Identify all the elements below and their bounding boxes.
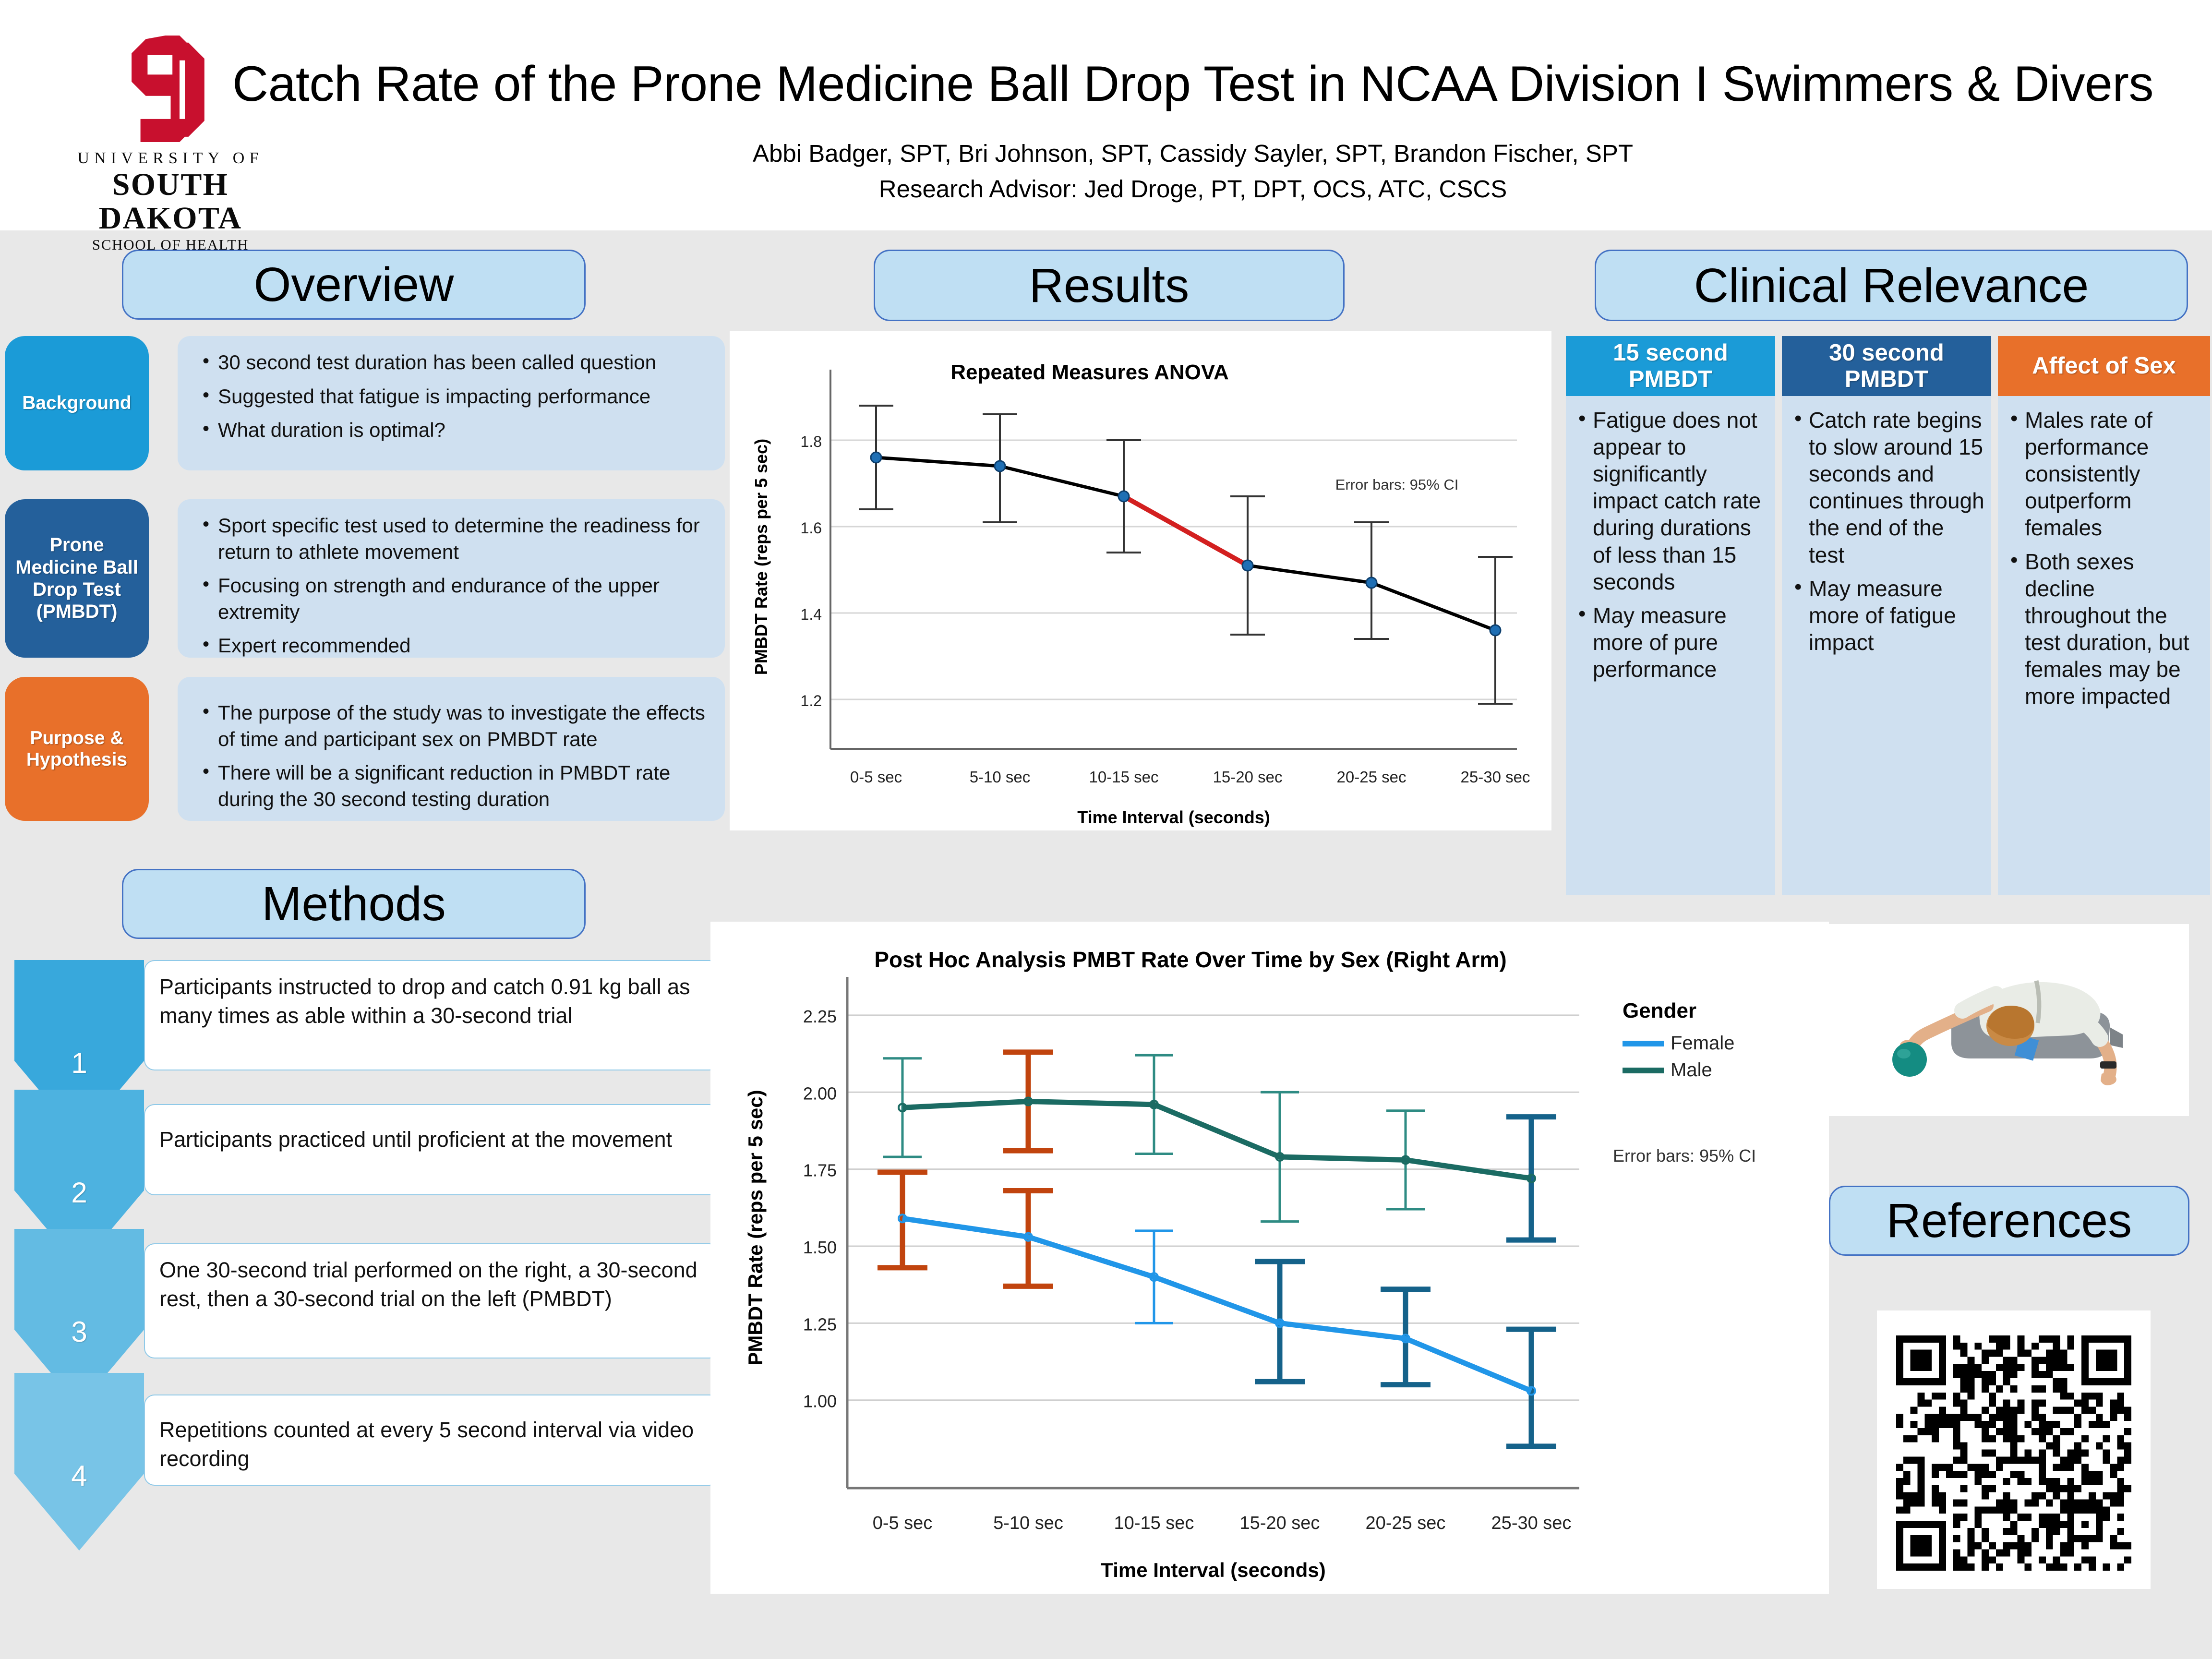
- overview-body-pmbdt: Sport specific test used to determine th…: [178, 499, 725, 658]
- svg-text:Female: Female: [1671, 1033, 1734, 1054]
- svg-text:1.2: 1.2: [801, 692, 822, 709]
- poster-title: Catch Rate of the Prone Medicine Ball Dr…: [206, 58, 2179, 110]
- overview-bullet: Focusing on strength and endurance of th…: [218, 573, 708, 625]
- svg-text:2.25: 2.25: [803, 1007, 837, 1026]
- methods-step-number: 4: [50, 1462, 108, 1491]
- references-qr-panel[interactable]: [1877, 1310, 2151, 1589]
- clinical-column-heading: 15 second PMBDT: [1566, 336, 1775, 396]
- clinical-column-30-second: 30 second PMBDT Catch rate begins to slo…: [1782, 336, 1991, 895]
- methods-step-card-3: One 30-second trial performed on the rig…: [144, 1243, 720, 1358]
- results-section-banner: Results: [874, 250, 1345, 321]
- qr-code-icon[interactable]: [1896, 1335, 2131, 1571]
- svg-text:1.25: 1.25: [803, 1314, 837, 1334]
- clinical-column-body: Catch rate begins to slow around 15 seco…: [1782, 396, 1991, 895]
- methods-step-card-1: Participants instructed to drop and catc…: [144, 960, 720, 1070]
- svg-text:Repeated Measures ANOVA: Repeated Measures ANOVA: [950, 361, 1229, 384]
- clinical-relevance-banner: Clinical Relevance: [1595, 250, 2188, 321]
- research-advisor: Research Advisor: Jed Droge, PT, DPT, OC…: [206, 173, 2179, 205]
- references-section-banner: References: [1829, 1186, 2189, 1256]
- clinical-column-body: Fatigue does not appear to significantly…: [1566, 396, 1775, 895]
- svg-text:1.8: 1.8: [801, 433, 822, 450]
- svg-text:2.00: 2.00: [803, 1083, 837, 1103]
- overview-body-purpose: The purpose of the study was to investig…: [178, 677, 725, 821]
- svg-text:Error bars: 95% CI: Error bars: 95% CI: [1335, 476, 1459, 493]
- overview-tab-label: Prone Medicine Ball Drop Test (PMBDT): [10, 534, 144, 623]
- post-hoc-by-sex-chart: 1.001.251.501.752.002.25Post Hoc Analysi…: [710, 922, 1829, 1594]
- svg-text:20-25 sec: 20-25 sec: [1337, 768, 1407, 786]
- clinical-column-15-second: 15 second PMBDT Fatigue does not appear …: [1566, 336, 1775, 895]
- svg-text:15-20 sec: 15-20 sec: [1240, 1513, 1320, 1533]
- svg-text:Time Interval (seconds): Time Interval (seconds): [1077, 807, 1270, 827]
- svg-text:Error bars: 95% CI: Error bars: 95% CI: [1613, 1146, 1756, 1166]
- clinical-bullet: Both sexes decline throughout the test d…: [2025, 548, 2203, 710]
- poster-header: UNIVERSITY OF SOUTH DAKOTA SCHOOL OF HEA…: [0, 0, 2212, 230]
- svg-text:0-5 sec: 0-5 sec: [873, 1513, 933, 1533]
- svg-text:1.75: 1.75: [803, 1161, 837, 1180]
- svg-text:PMBDT Rate (reps per 5 sec): PMBDT Rate (reps per 5 sec): [751, 439, 771, 675]
- methods-step-number: 1: [50, 1049, 108, 1078]
- references-banner-label: References: [1887, 1197, 2132, 1245]
- svg-text:PMBDT Rate (reps per 5 sec): PMBDT Rate (reps per 5 sec): [744, 1090, 767, 1365]
- overview-bullet: Sport specific test used to determine th…: [218, 513, 708, 565]
- overview-bullet: Suggested that fatigue is impacting perf…: [218, 384, 708, 410]
- clinical-bullet: Fatigue does not appear to significantly…: [1593, 407, 1768, 595]
- svg-text:25-30 sec: 25-30 sec: [1461, 768, 1530, 786]
- demonstration-photo-panel: [1829, 924, 2189, 1116]
- clinical-bullet: Males rate of performance consistently o…: [2025, 407, 2203, 541]
- clinical-bullet: May measure more of pure performance: [1593, 602, 1768, 683]
- clinical-bullet: Catch rate begins to slow around 15 seco…: [1809, 407, 1984, 568]
- svg-text:1.00: 1.00: [803, 1392, 837, 1411]
- clinical-column-heading: 30 second PMBDT: [1782, 336, 1991, 396]
- overview-section-banner: Overview: [122, 250, 586, 320]
- overview-banner-label: Overview: [254, 261, 454, 309]
- methods-step-card-2: Participants practiced until proficient …: [144, 1104, 720, 1195]
- author-list: Abbi Badger, SPT, Bri Johnson, SPT, Cass…: [206, 137, 2179, 169]
- post-hoc-chart-panel: 1.001.251.501.752.002.25Post Hoc Analysi…: [710, 922, 1829, 1594]
- svg-text:1.50: 1.50: [803, 1238, 837, 1257]
- svg-text:15-20 sec: 15-20 sec: [1213, 768, 1283, 786]
- svg-text:1.4: 1.4: [801, 606, 822, 623]
- prone-ball-drop-photo: [1829, 924, 2189, 1116]
- results-banner-label: Results: [1029, 262, 1189, 310]
- overview-body-background: 30 second test duration has been called …: [178, 336, 725, 470]
- overview-bullet: 30 second test duration has been called …: [218, 349, 708, 376]
- methods-step-number: 3: [50, 1318, 108, 1346]
- svg-text:Gender: Gender: [1623, 999, 1696, 1022]
- clinical-column-body: Males rate of performance consistently o…: [1998, 396, 2210, 895]
- results-chart-panel: 1.21.41.61.8Repeated Measures ANOVAError…: [730, 331, 1551, 830]
- clinical-column-heading: Affect of Sex: [1998, 336, 2210, 396]
- overview-tab-label: Background: [22, 392, 132, 414]
- overview-bullet: What duration is optimal?: [218, 417, 708, 444]
- clinical-column-affect-of-sex: Affect of Sex Males rate of performance …: [1998, 336, 2210, 895]
- svg-text:Time Interval (seconds): Time Interval (seconds): [1101, 1559, 1325, 1581]
- svg-text:5-10 sec: 5-10 sec: [993, 1513, 1063, 1533]
- svg-text:1.6: 1.6: [801, 519, 822, 537]
- svg-text:Male: Male: [1671, 1059, 1712, 1081]
- methods-step-card-4: Repetitions counted at every 5 second in…: [144, 1395, 720, 1486]
- svg-text:5-10 sec: 5-10 sec: [970, 768, 1031, 786]
- svg-text:10-15 sec: 10-15 sec: [1089, 768, 1159, 786]
- sd-monogram-icon: [126, 34, 215, 144]
- overview-bullet: Expert recommended: [218, 633, 708, 659]
- methods-step-number: 2: [50, 1178, 108, 1207]
- methods-banner-label: Methods: [262, 880, 446, 928]
- svg-text:20-25 sec: 20-25 sec: [1366, 1513, 1446, 1533]
- clinical-banner-label: Clinical Relevance: [1694, 262, 2089, 310]
- overview-bullet: The purpose of the study was to investig…: [218, 700, 708, 752]
- svg-text:0-5 sec: 0-5 sec: [850, 768, 902, 786]
- overview-tab-label: Purpose & Hypothesis: [10, 727, 144, 770]
- svg-text:Post Hoc Analysis PMBT Rate Ov: Post Hoc Analysis PMBT Rate Over Time by…: [874, 947, 1506, 972]
- methods-section-banner: Methods: [122, 869, 586, 939]
- svg-text:10-15 sec: 10-15 sec: [1114, 1513, 1194, 1533]
- svg-text:25-30 sec: 25-30 sec: [1491, 1513, 1572, 1533]
- overview-tab-purpose: Purpose & Hypothesis: [5, 677, 149, 821]
- overview-bullet: There will be a significant reduction in…: [218, 760, 708, 812]
- overview-tab-pmbdt: Prone Medicine Ball Drop Test (PMBDT): [5, 499, 149, 658]
- overview-tab-background: Background: [5, 336, 149, 470]
- repeated-measures-anova-chart: 1.21.41.61.8Repeated Measures ANOVAError…: [730, 331, 1551, 830]
- clinical-bullet: May measure more of fatigue impact: [1809, 575, 1984, 656]
